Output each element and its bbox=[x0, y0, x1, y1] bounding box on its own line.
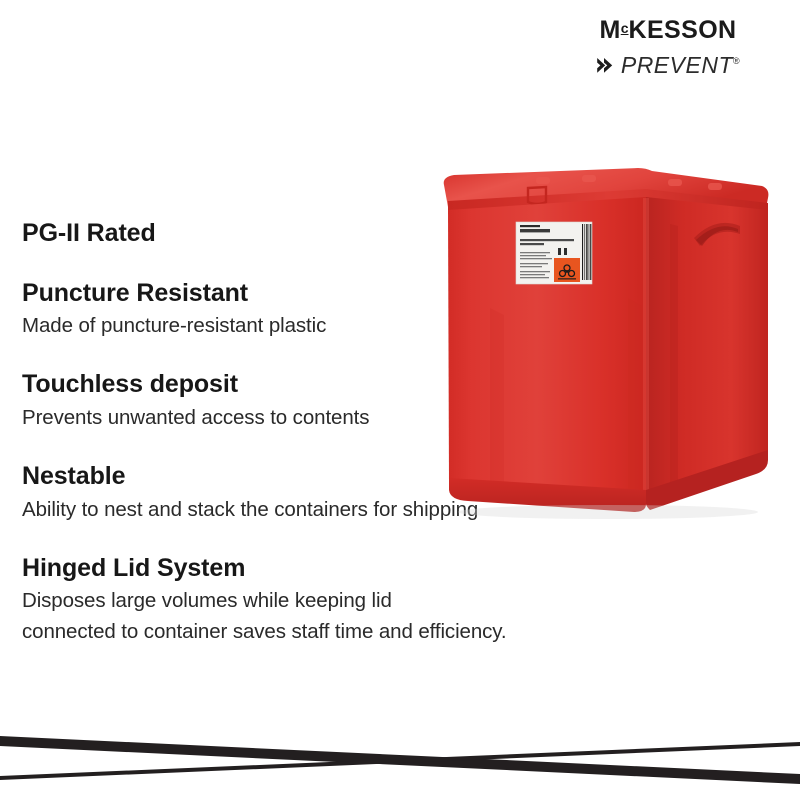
registered-mark: ® bbox=[733, 56, 740, 66]
feature-title: Hinged Lid System bbox=[22, 554, 622, 584]
lid-tab bbox=[708, 183, 722, 190]
mckesson-superscript-c: c bbox=[621, 20, 629, 36]
mckesson-wordmark: McKESSON bbox=[578, 18, 758, 43]
feature-sheet-page: McKESSON PREVENT® PG-II Rated Puncture R… bbox=[0, 0, 800, 800]
product-image bbox=[432, 160, 776, 532]
bottom-decoration bbox=[0, 710, 800, 800]
container-corner-highlight bbox=[643, 198, 649, 504]
prevent-text: PREVENT bbox=[621, 52, 733, 78]
feature-description-line: connected to container saves staff time … bbox=[22, 617, 622, 647]
lid-tab bbox=[668, 179, 682, 186]
label-prevent-line bbox=[520, 229, 550, 232]
prevent-lockup: PREVENT® bbox=[578, 54, 758, 77]
feature-description-line: Disposes large volumes while keeping lid bbox=[22, 586, 622, 616]
double-chevron-icon bbox=[596, 57, 618, 74]
product-label bbox=[516, 222, 592, 284]
biohazard-icon bbox=[554, 258, 580, 282]
red-sharps-container-illustration bbox=[432, 160, 776, 532]
brand-lockup: McKESSON PREVENT® bbox=[578, 18, 758, 77]
container-side-crease bbox=[670, 224, 678, 494]
label-brand-line bbox=[520, 225, 540, 227]
mckesson-suffix: KESSON bbox=[629, 16, 737, 44]
lid-tab bbox=[536, 177, 550, 184]
container-front-crease-right bbox=[628, 298, 642, 494]
feature-item-hinged-lid-system: Hinged Lid System Disposes large volumes… bbox=[22, 554, 622, 647]
lid-tab bbox=[582, 175, 596, 182]
prevent-wordmark: PREVENT® bbox=[621, 54, 740, 77]
feature-description: Disposes large volumes while keeping lid… bbox=[22, 586, 622, 647]
label-title-line bbox=[520, 243, 544, 245]
label-title-line bbox=[520, 239, 574, 241]
container-front-crease bbox=[490, 308, 504, 496]
mckesson-prefix: M bbox=[599, 16, 620, 44]
container-shadow bbox=[458, 505, 758, 519]
diagonal-rules bbox=[0, 710, 800, 800]
